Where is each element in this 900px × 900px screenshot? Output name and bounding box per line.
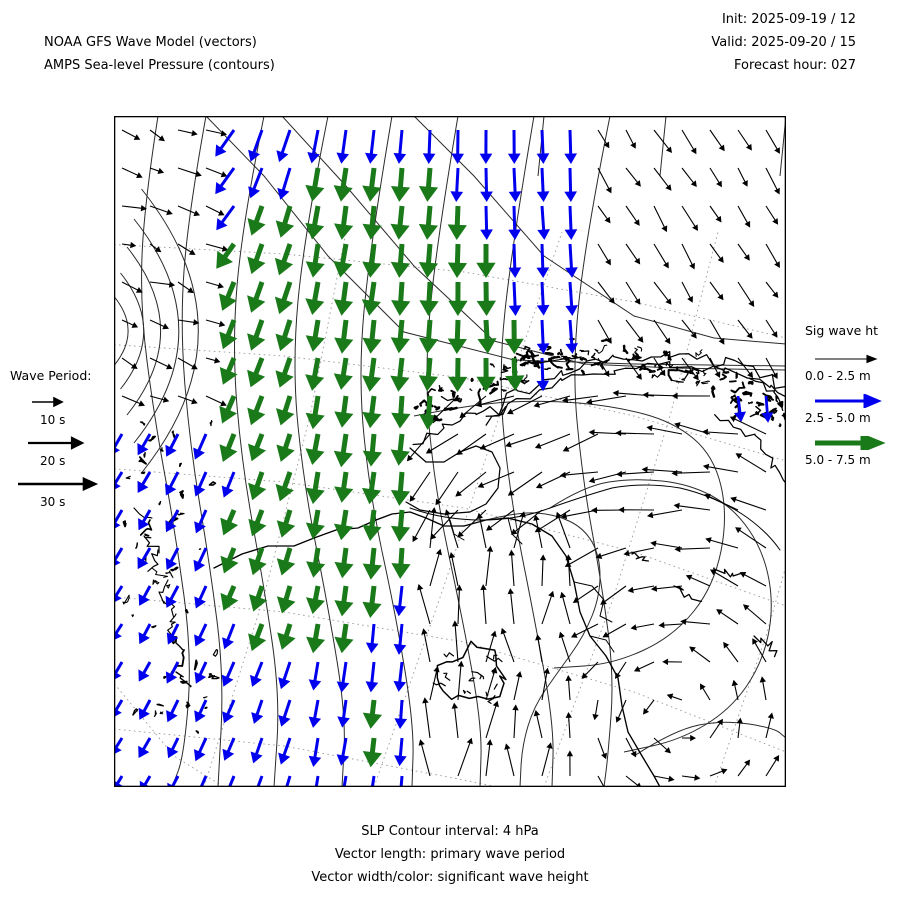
sig-wave-height-legend-label-mid: 2.5 - 5.0 m [805, 411, 900, 425]
arrow-icon-waveht-high [805, 436, 900, 451]
sig-wave-height-legend-item-low: 0.0 - 2.5 m [805, 352, 900, 383]
arrow-icon-waveht-mid [805, 394, 900, 409]
wave-period-legend-title: Wave Period: [10, 368, 115, 383]
footer-contour-interval: SLP Contour interval: 4 hPa [0, 820, 900, 843]
arrow-icon-20s [10, 436, 110, 450]
map-background [114, 116, 786, 787]
wave-period-legend-label-30s: 30 s [40, 495, 115, 509]
header-init: Init: 2025-09-19 / 12 [711, 8, 856, 31]
sig-wave-height-legend-label-low: 0.0 - 2.5 m [805, 369, 900, 383]
footer-vector-width: Vector width/color: significant wave hei… [0, 866, 900, 889]
header-left: NOAA GFS Wave Model (vectors) AMPS Sea-l… [44, 31, 275, 77]
map-canvas[interactable] [114, 116, 786, 787]
sig-wave-height-legend-label-high: 5.0 - 7.5 m [805, 453, 900, 467]
header-line-pressure: AMPS Sea-level Pressure (contours) [44, 54, 275, 77]
sig-wave-height-legend: Sig wave ht 0.0 - 2.5 m 2.5 - 5.0 m [805, 323, 900, 478]
sig-wave-height-legend-item-mid: 2.5 - 5.0 m [805, 394, 900, 425]
wave-period-legend-label-20s: 20 s [40, 454, 115, 468]
footer-caption: SLP Contour interval: 4 hPa Vector lengt… [0, 820, 900, 889]
sig-wave-height-legend-title: Sig wave ht [805, 323, 900, 338]
header-valid: Valid: 2025-09-20 / 15 [711, 31, 856, 54]
wave-period-legend-item-30s: 30 s [10, 477, 115, 509]
arrow-icon-30s [10, 477, 110, 491]
header-right: Init: 2025-09-19 / 12 Valid: 2025-09-20 … [711, 8, 856, 77]
footer-vector-length: Vector length: primary wave period [0, 843, 900, 866]
wave-period-legend-label-10s: 10 s [40, 413, 115, 427]
wave-period-legend-item-10s: 10 s [10, 395, 115, 427]
map-plot-area[interactable] [114, 116, 786, 787]
wave-period-legend: Wave Period: 10 s 20 s 30 s [10, 368, 115, 518]
wave-period-legend-item-20s: 20 s [10, 436, 115, 468]
arrow-icon-10s [10, 395, 110, 409]
sig-wave-height-legend-item-high: 5.0 - 7.5 m [805, 436, 900, 467]
header-forecast-hour: Forecast hour: 027 [711, 54, 856, 77]
header-line-model: NOAA GFS Wave Model (vectors) [44, 31, 275, 54]
arrow-icon-waveht-low [805, 352, 900, 367]
